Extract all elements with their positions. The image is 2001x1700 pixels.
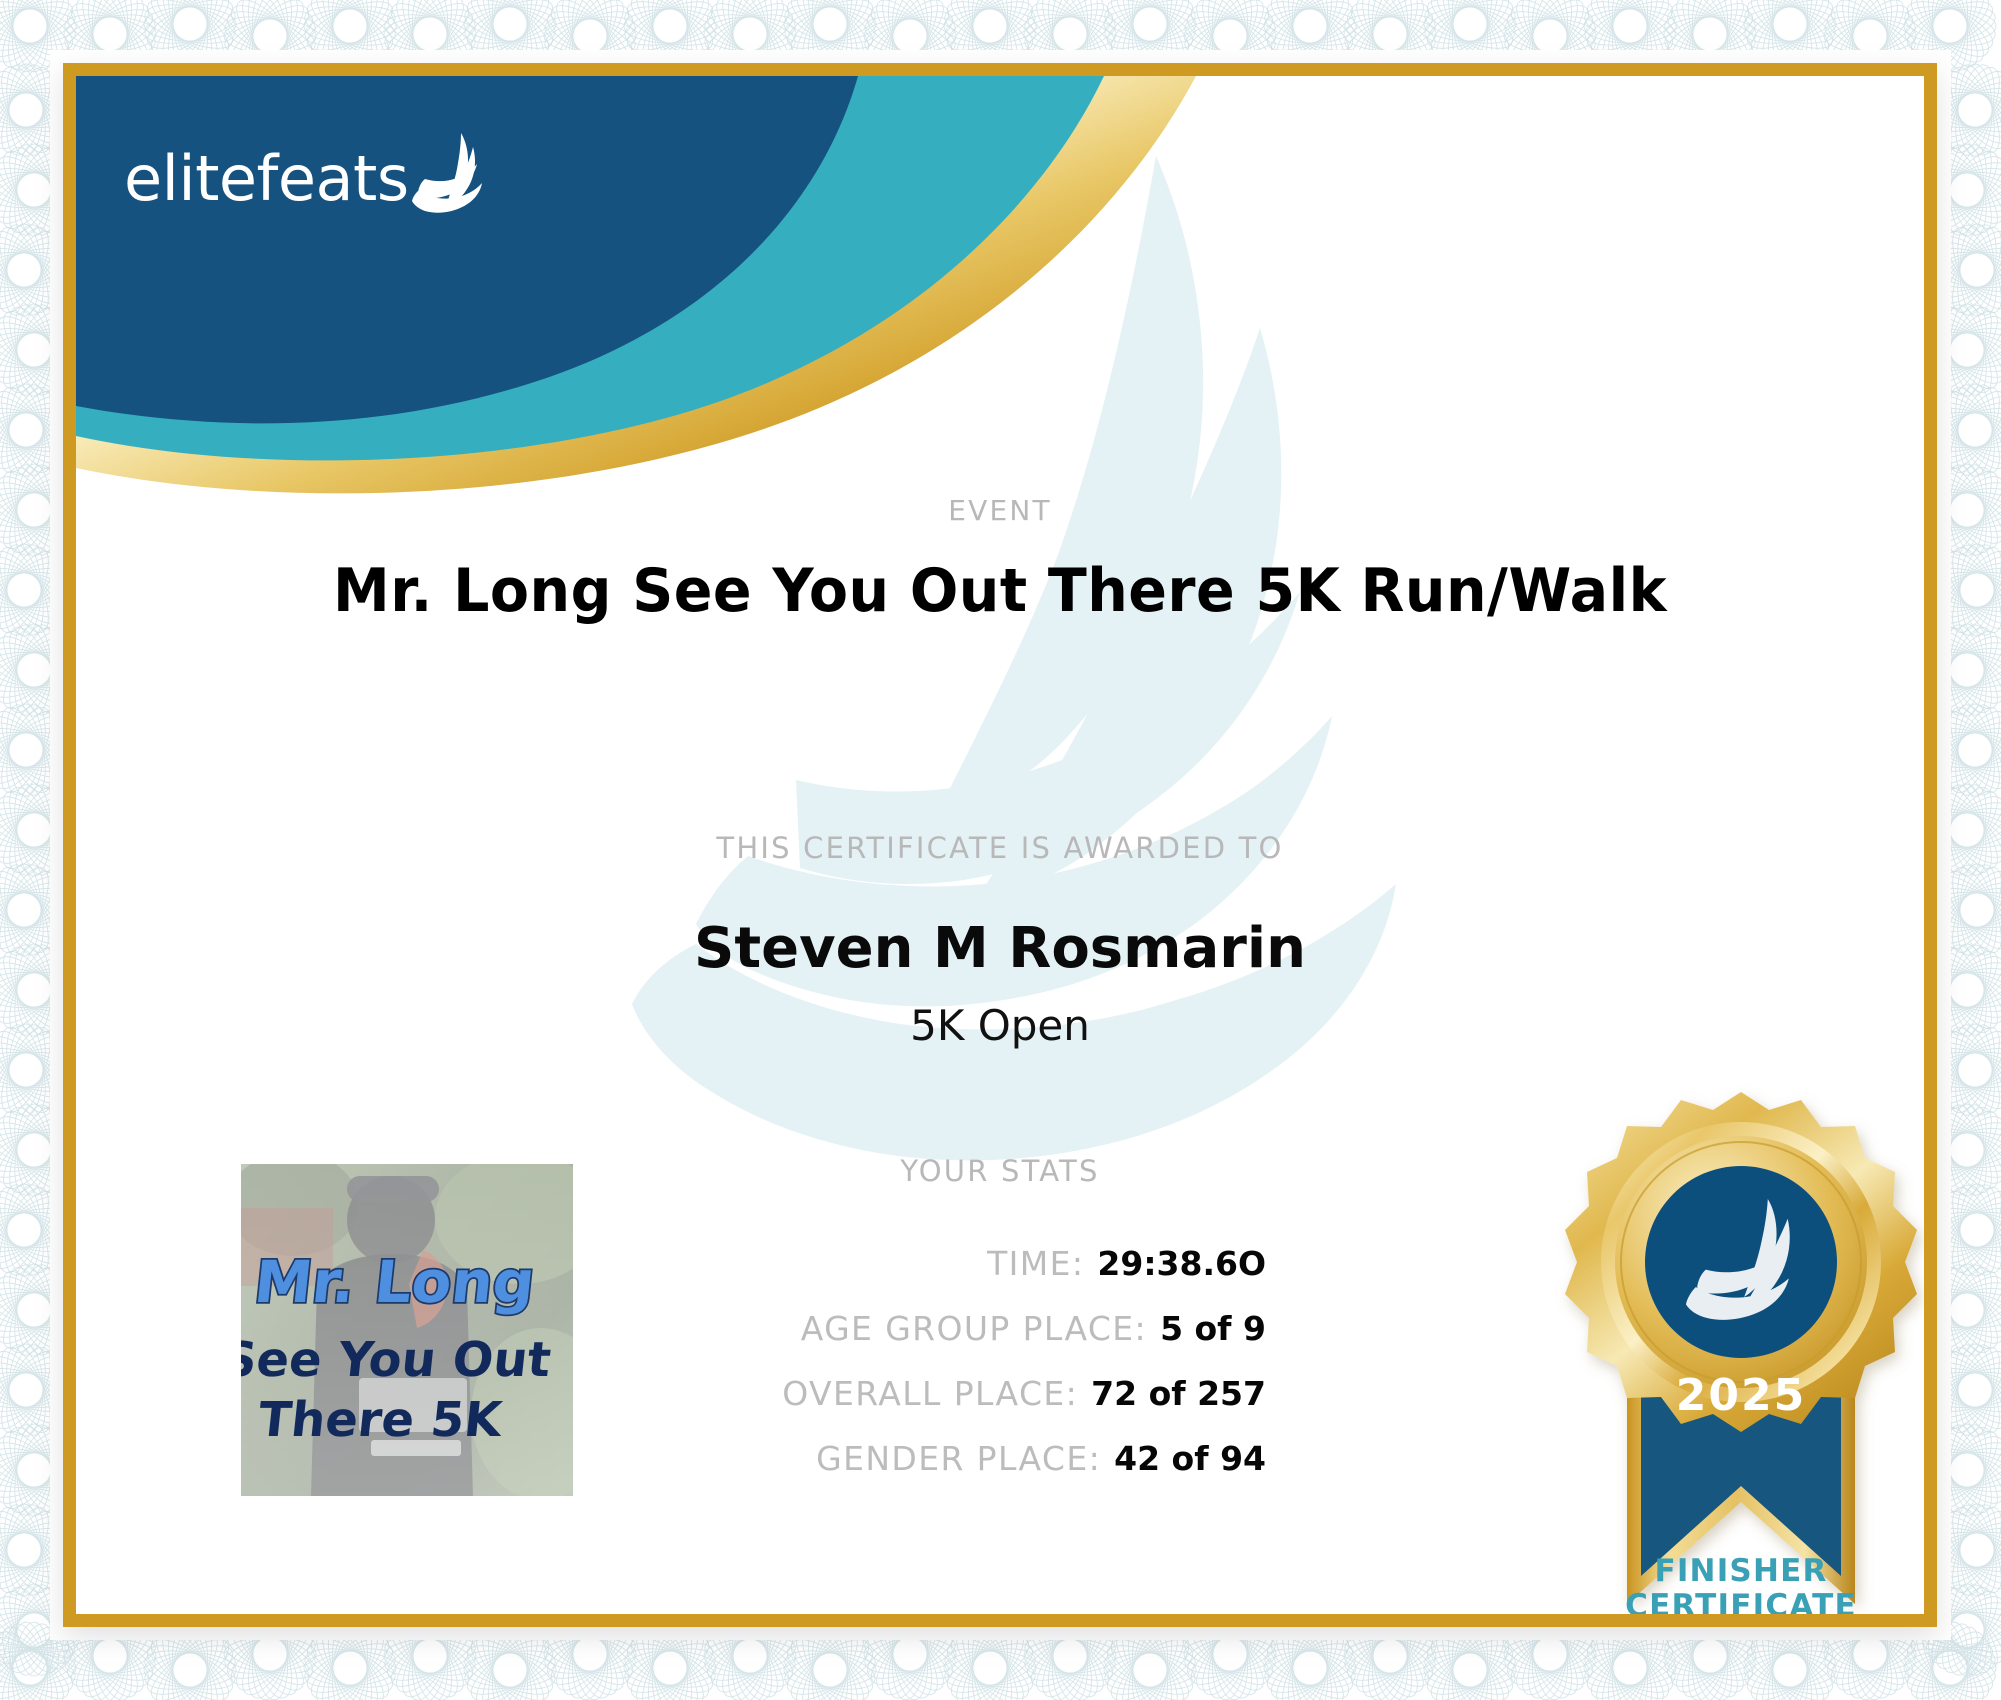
- stat-key: OVERALL PLACE:: [782, 1374, 1078, 1413]
- stat-value: 42 of 94: [1114, 1439, 1266, 1478]
- badge-caption-line-1: FINISHER: [1531, 1554, 1937, 1589]
- badge-caption: FINISHER CERTIFICATE: [1531, 1554, 1937, 1623]
- medal-center: [1645, 1166, 1837, 1358]
- event-title: Mr. Long See You Out There 5K Run/Walk: [122, 556, 1878, 626]
- photo-line-2: See You Out: [241, 1332, 554, 1388]
- division-label: 5K Open: [76, 1001, 1924, 1050]
- stat-value: 5 of 9: [1160, 1309, 1266, 1348]
- stat-value: 72 of 257: [1091, 1374, 1266, 1413]
- brand-wordmark: elitefeats: [124, 142, 409, 215]
- badge-year: 2025: [1676, 1370, 1806, 1421]
- finisher-medal-badge: 2025: [1531, 1084, 1937, 1627]
- stat-value: 29:38.6O: [1097, 1244, 1266, 1283]
- badge-caption-line-2: CERTIFICATE: [1531, 1589, 1937, 1624]
- elitefeats-logo: elitefeats: [124, 142, 483, 215]
- event-label: EVENT: [76, 494, 1924, 527]
- recipient-name: Steven M Rosmarin: [76, 916, 1924, 981]
- stat-key: TIME:: [987, 1244, 1084, 1283]
- event-photo: Mr. Long See You Out There 5K: [241, 1164, 573, 1496]
- photo-line-3: There 5K: [256, 1392, 507, 1448]
- certificate-content: EVENT Mr. Long See You Out There 5K Run/…: [76, 76, 1924, 1614]
- winged-foot-icon: [411, 131, 483, 213]
- photo-line-1: Mr. Long: [251, 1248, 538, 1316]
- stat-key: GENDER PLACE:: [816, 1439, 1101, 1478]
- certificate-page: elitefeats EVENT Mr. Long See You Out Th…: [0, 0, 2001, 1700]
- awarded-to-label: THIS CERTIFICATE IS AWARDED TO: [76, 831, 1924, 865]
- certificate-frame: elitefeats EVENT Mr. Long See You Out Th…: [63, 63, 1937, 1627]
- stat-key: AGE GROUP PLACE:: [801, 1309, 1147, 1348]
